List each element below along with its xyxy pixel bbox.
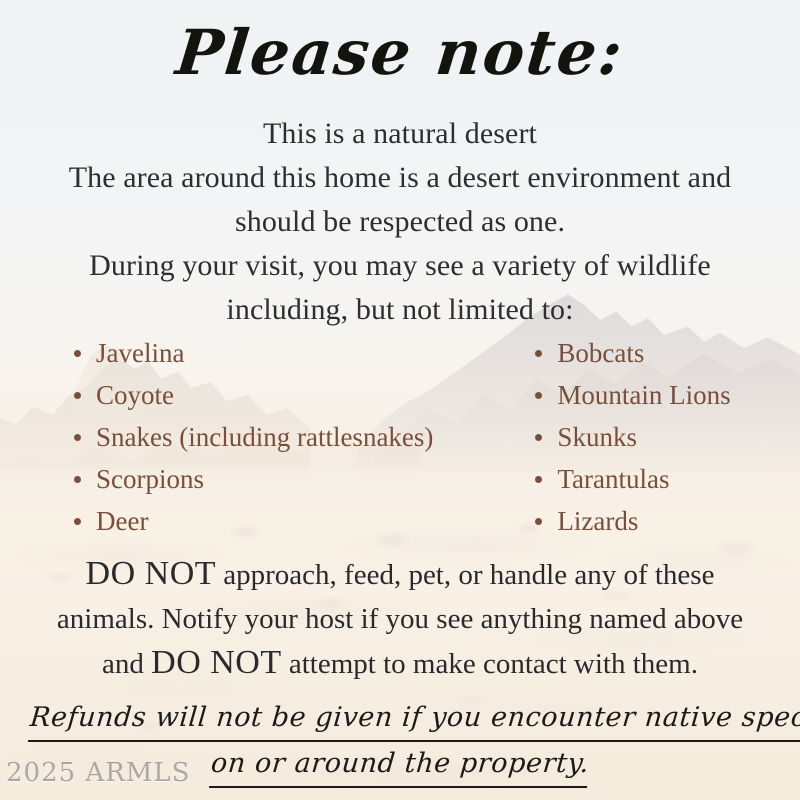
bullet-icon [535,392,542,399]
intro-paragraph: This is a natural desert The area around… [34,112,766,332]
intro-line: During your visit, you may see a variety… [34,244,766,288]
refund-line: Refunds will not be given if you encount… [28,696,800,742]
warning-emphasis: DO NOT [151,644,281,681]
page-title: Please note: [0,22,800,84]
list-item: Scorpions [72,458,433,500]
list-item: Mountain Lions [533,374,730,416]
bullet-icon [74,518,81,525]
intro-line: including, but not limited to: [34,288,766,332]
warning-text: and [102,648,151,680]
list-item: Bobcats [533,332,730,374]
warning-line: animals. Notify your host if you see any… [30,597,770,641]
bullet-icon [74,476,81,483]
bullet-icon [535,350,542,357]
list-item: Skunks [533,416,730,458]
bullet-icon [74,392,81,399]
list-item-label: Deer [96,506,148,536]
warning-line: and DO NOT attempt to make contact with … [30,641,770,686]
watermark: 2025 ARMLS [6,758,190,788]
warning-paragraph: DO NOT approach, feed, pet, or handle an… [30,552,770,686]
bullet-icon [535,434,542,441]
wildlife-lists: Javelina Coyote Snakes (including rattle… [0,332,800,542]
list-item-label: Bobcats [557,338,644,368]
list-item-label: Lizards [557,506,638,536]
list-item: Coyote [72,374,433,416]
list-item-label: Skunks [557,422,637,452]
refund-line: on or around the property. [209,742,591,788]
intro-line: The area around this home is a desert en… [34,156,766,200]
list-item-label: Scorpions [96,464,204,494]
list-item-label: Coyote [96,380,174,410]
list-item-label: Javelina [96,338,184,368]
desert-notice-poster: Please note: This is a natural desert Th… [0,0,800,800]
warning-text: approach, feed, pet, or handle any of th… [216,559,714,591]
warning-line: DO NOT approach, feed, pet, or handle an… [30,552,770,597]
warning-text: attempt to make contact with them. [282,648,698,680]
bullet-icon [535,476,542,483]
list-item: Tarantulas [533,458,730,500]
intro-line: should be respected as one. [34,200,766,244]
warning-emphasis: DO NOT [86,555,216,592]
list-item: Javelina [72,332,433,374]
bullet-icon [74,434,81,441]
list-item-label: Snakes (including rattlesnakes) [96,422,433,452]
list-item: Deer [72,500,433,542]
bullet-icon [535,518,542,525]
intro-line: This is a natural desert [34,112,766,156]
list-item-label: Mountain Lions [557,380,730,410]
bullet-icon [74,350,81,357]
refund-row: Refunds will not be given if you encount… [30,696,770,742]
list-item: Lizards [533,500,730,542]
list-item: Snakes (including rattlesnakes) [72,416,433,458]
list-item-label: Tarantulas [557,464,669,494]
